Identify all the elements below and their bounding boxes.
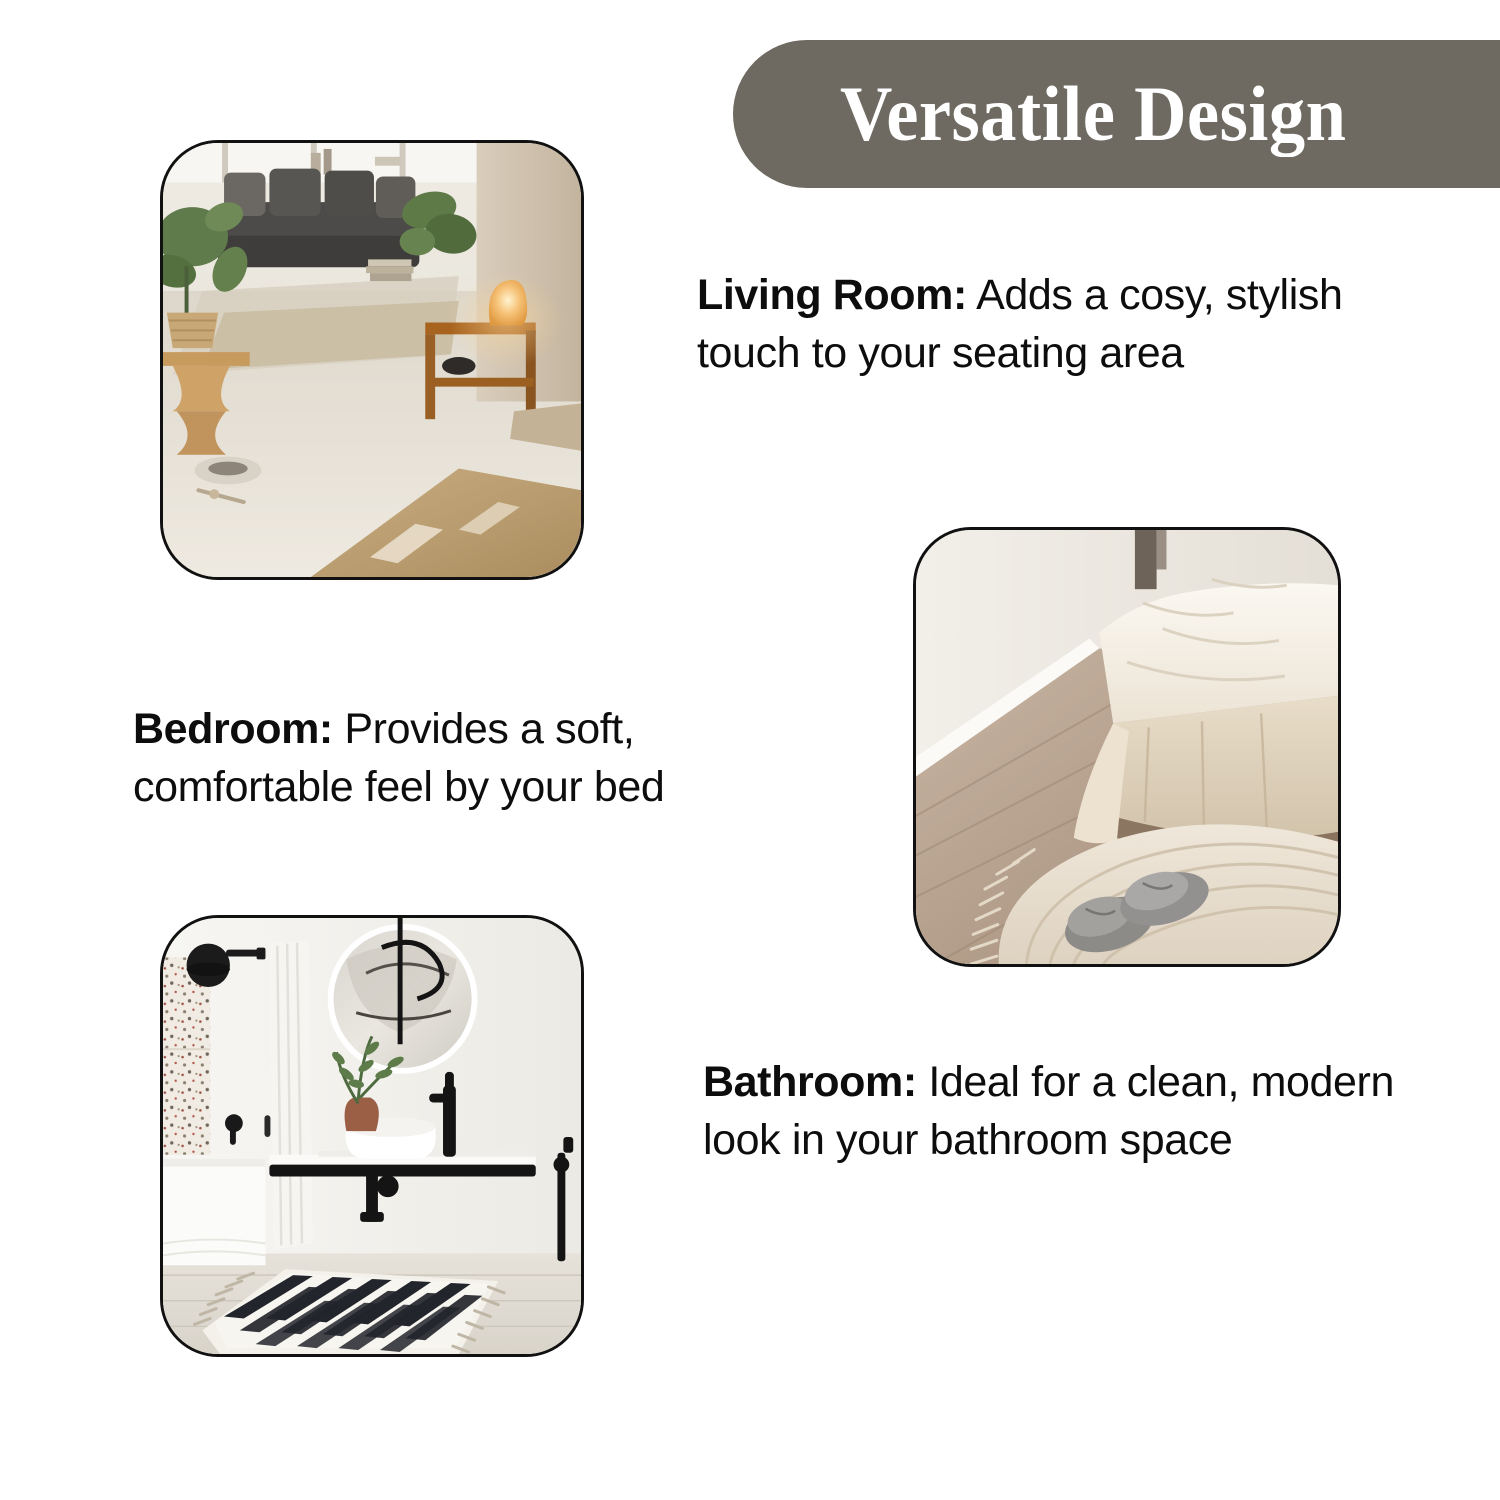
page-title: Versatile Design [840, 75, 1346, 153]
photo-living-room [160, 140, 584, 580]
header-banner: Versatile Design [733, 40, 1500, 188]
bathroom-illustration [163, 918, 581, 1354]
caption-bedroom: Bedroom: Provides a soft, comfortable fe… [133, 700, 863, 816]
caption-label-bathroom: Bathroom: [703, 1058, 917, 1106]
bedroom-illustration [916, 530, 1338, 964]
living-room-illustration [163, 143, 581, 577]
photo-bathroom [160, 915, 584, 1357]
caption-label-bedroom: Bedroom: [133, 705, 333, 753]
caption-label-living-room: Living Room: [697, 271, 967, 319]
caption-living-room: Living Room: Adds a cosy, stylish touch … [697, 266, 1397, 382]
caption-bathroom: Bathroom: Ideal for a clean, modern look… [703, 1053, 1478, 1169]
photo-bedroom [913, 527, 1341, 967]
infographic-page: Versatile Design [0, 0, 1500, 1500]
